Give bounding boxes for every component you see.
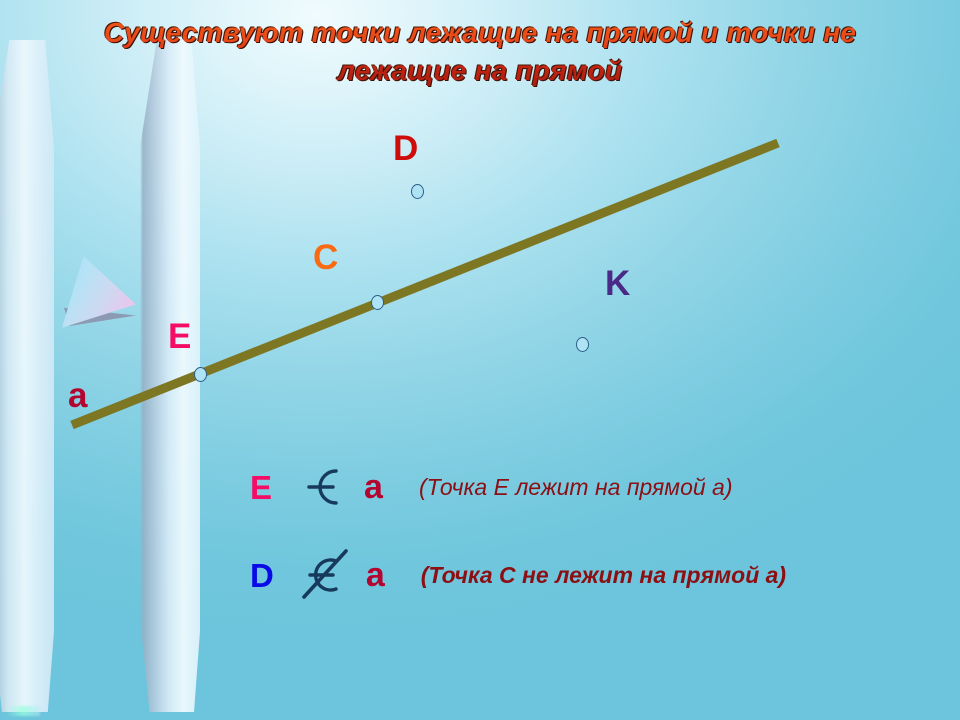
pillar-body — [0, 40, 54, 712]
point-marker-D — [411, 184, 424, 199]
point-label-K: K — [605, 266, 630, 301]
point-marker-C — [371, 295, 384, 310]
triangle-shape — [62, 256, 136, 334]
decorative-pillar-right — [140, 40, 200, 712]
point-marker-K — [576, 337, 589, 352]
pillar-foot-glow — [6, 706, 41, 716]
point-label-D: D — [393, 131, 418, 166]
decorative-triangle — [60, 256, 150, 348]
statement-1-line: a — [364, 470, 383, 504]
statement-row-2: D a (Точка С не лежит на прямой а) — [250, 551, 786, 599]
statement-row-1: E a (Точка Е лежит на прямой а) — [250, 463, 733, 511]
statement-2-line: a — [366, 558, 385, 592]
page-title: Существуют точки лежащие на прямой и точ… — [50, 14, 910, 90]
line-label-a: a — [68, 378, 87, 413]
pillar-body — [140, 40, 200, 712]
decorative-pillar-left — [0, 40, 54, 712]
point-label-C: C — [313, 240, 338, 275]
point-label-E: E — [168, 319, 191, 354]
statement-2-point: D — [250, 559, 274, 592]
slide-canvas: Существуют точки лежащие на прямой и точ… — [0, 0, 960, 720]
point-marker-E — [194, 367, 207, 382]
element-of-icon — [296, 463, 358, 511]
statement-2-note: (Точка С не лежит на прямой а) — [421, 564, 786, 587]
statement-1-point: E — [250, 471, 272, 504]
statement-1-note: (Точка Е лежит на прямой а) — [419, 476, 733, 499]
not-element-of-icon — [298, 551, 360, 599]
